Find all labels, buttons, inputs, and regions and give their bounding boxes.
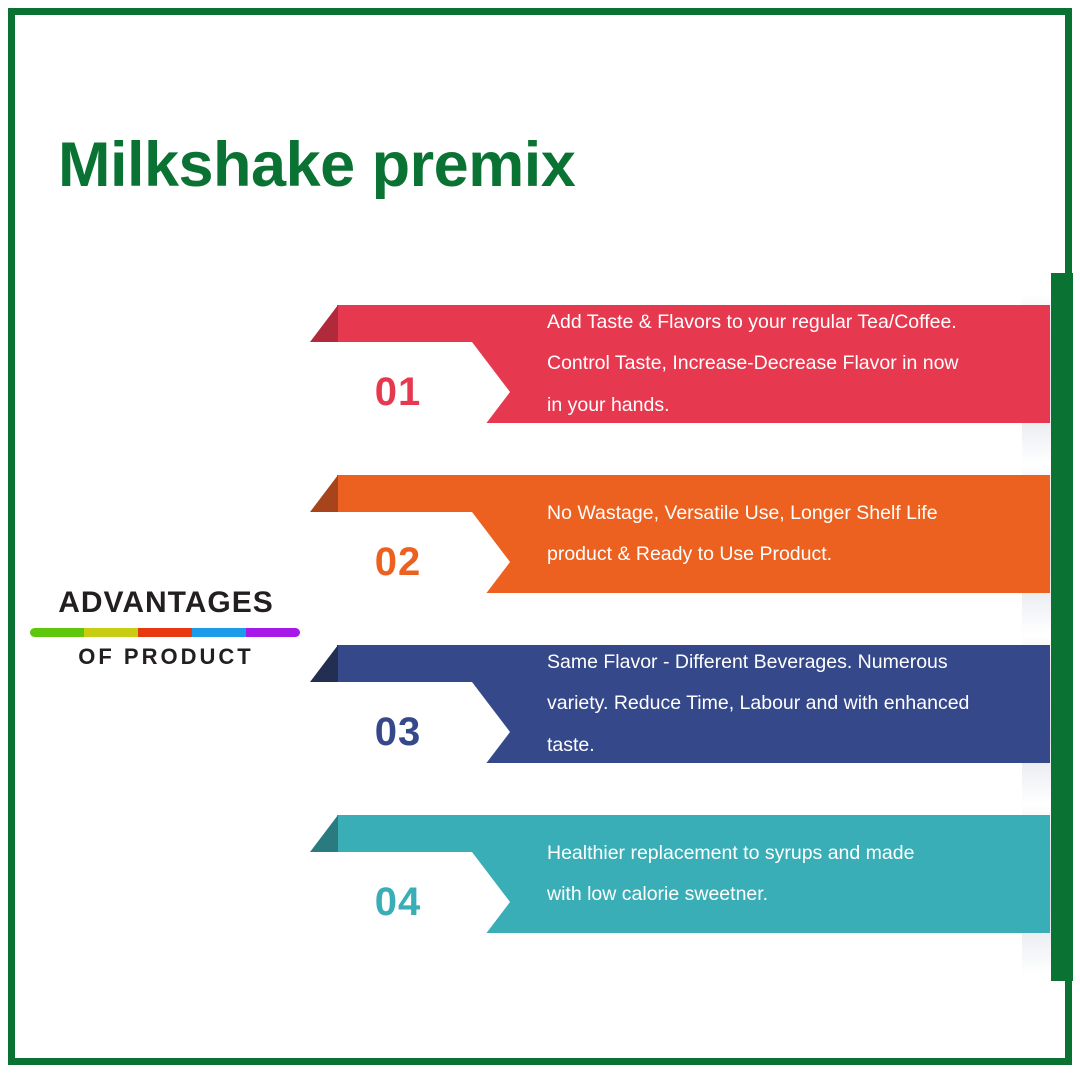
banner-text-line: variety. Reduce Time, Labour and with en… [547, 683, 1017, 724]
banner-text-line: in your hands. [547, 385, 1017, 426]
banner-text: Add Taste & Flavors to your regular Tea/… [547, 305, 1017, 423]
advantage-banner[interactable]: 01Add Taste & Flavors to your regular Te… [0, 295, 1080, 465]
banner-text-line: Control Taste, Increase-Decrease Flavor … [547, 343, 1017, 384]
banner-fold-corner [310, 475, 338, 512]
banner-number: 01 [310, 342, 472, 442]
banner-text-line: Healthier replacement to syrups and made [547, 833, 1017, 874]
poster-canvas: Milkshake premix ADVANTAGES OF PRODUCT 0… [0, 0, 1080, 1080]
right-green-accent-bar [1051, 273, 1073, 981]
page-title: Milkshake premix [58, 132, 575, 198]
banner-text: Healthier replacement to syrups and made… [547, 815, 1017, 933]
advantage-banner[interactable]: 03Same Flavor - Different Beverages. Num… [0, 635, 1080, 805]
banner-number: 03 [310, 682, 472, 782]
advantage-banner[interactable]: 02No Wastage, Versatile Use, Longer Shel… [0, 465, 1080, 635]
banner-text: No Wastage, Versatile Use, Longer Shelf … [547, 475, 1017, 593]
advantage-banner[interactable]: 04Healthier replacement to syrups and ma… [0, 805, 1080, 975]
banner-fold-corner [310, 645, 338, 682]
banner-text-line: Same Flavor - Different Beverages. Numer… [547, 642, 1017, 683]
banner-text: Same Flavor - Different Beverages. Numer… [547, 645, 1017, 763]
banner-fold-corner [310, 815, 338, 852]
banner-fold-corner [310, 305, 338, 342]
frame-border-bottom [8, 1058, 1072, 1065]
banner-text-line: Add Taste & Flavors to your regular Tea/… [547, 302, 1017, 343]
banner-text-line: product & Ready to Use Product. [547, 534, 1017, 575]
banner-number: 02 [310, 512, 472, 612]
frame-border-top [8, 8, 1072, 15]
banner-text-line: No Wastage, Versatile Use, Longer Shelf … [547, 493, 1017, 534]
banner-text-line: with low calorie sweetner. [547, 874, 1017, 915]
banner-text-line: taste. [547, 725, 1017, 766]
banner-number: 04 [310, 852, 472, 952]
